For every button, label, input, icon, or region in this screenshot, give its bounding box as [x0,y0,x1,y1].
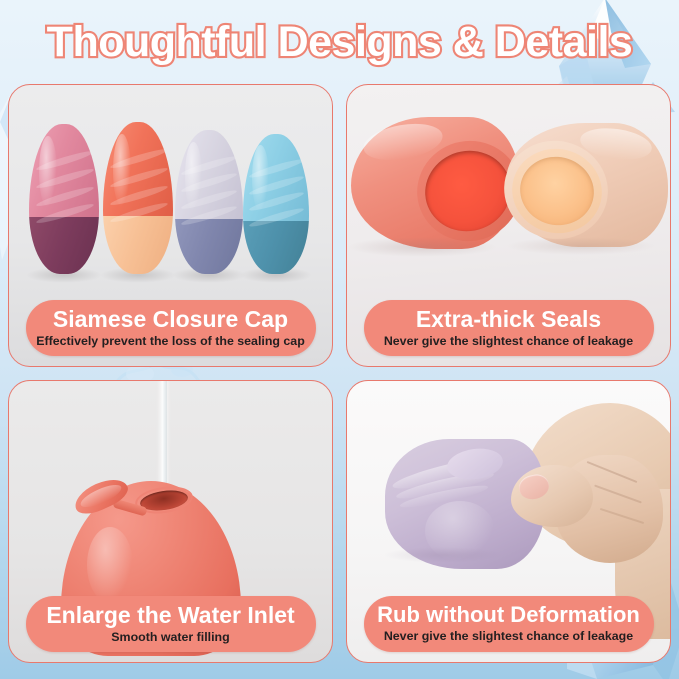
feature-grid: Siamese Closure Cap Effectively prevent … [8,84,671,670]
caption-subtitle: Effectively prevent the loss of the seal… [36,334,305,349]
product-lavender-bottle [175,130,243,274]
product-blue-bottle [243,134,309,274]
product-pink-bottle [29,124,99,274]
feature-panel-extra-thick-seals[interactable]: Extra-thick Seals Never give the slighte… [346,84,671,367]
product-coral-bottle [103,122,173,274]
product-peach-seal [506,123,668,247]
caption-siamese-closure-cap: Siamese Closure Cap Effectively prevent … [26,300,316,356]
caption-enlarge-the-water-inlet: Enlarge the Water Inlet Smooth water fil… [26,596,316,652]
product-coral-seal [351,117,519,249]
caption-extra-thick-seals: Extra-thick Seals Never give the slighte… [364,300,654,356]
caption-title: Rub without Deformation [377,604,640,627]
caption-title: Enlarge the Water Inlet [46,604,294,628]
feature-panel-siamese-closure-cap[interactable]: Siamese Closure Cap Effectively prevent … [8,84,333,367]
caption-subtitle: Never give the slightest chance of leaka… [384,334,633,349]
feature-panel-enlarge-the-water-inlet[interactable]: Enlarge the Water Inlet Smooth water fil… [8,380,333,663]
feature-panel-rub-without-deformation[interactable]: Rub without Deformation Never give the s… [346,380,671,663]
caption-title: Extra-thick Seals [416,308,601,332]
page-title-text: Thoughtful Designs & Details [47,21,633,64]
caption-subtitle: Smooth water filling [111,630,229,645]
caption-rub-without-deformation: Rub without Deformation Never give the s… [364,596,654,652]
caption-title: Siamese Closure Cap [53,308,288,332]
page-title: Thoughtful Designs & Details [0,14,679,70]
caption-subtitle: Never give the slightest chance of leaka… [384,629,633,644]
